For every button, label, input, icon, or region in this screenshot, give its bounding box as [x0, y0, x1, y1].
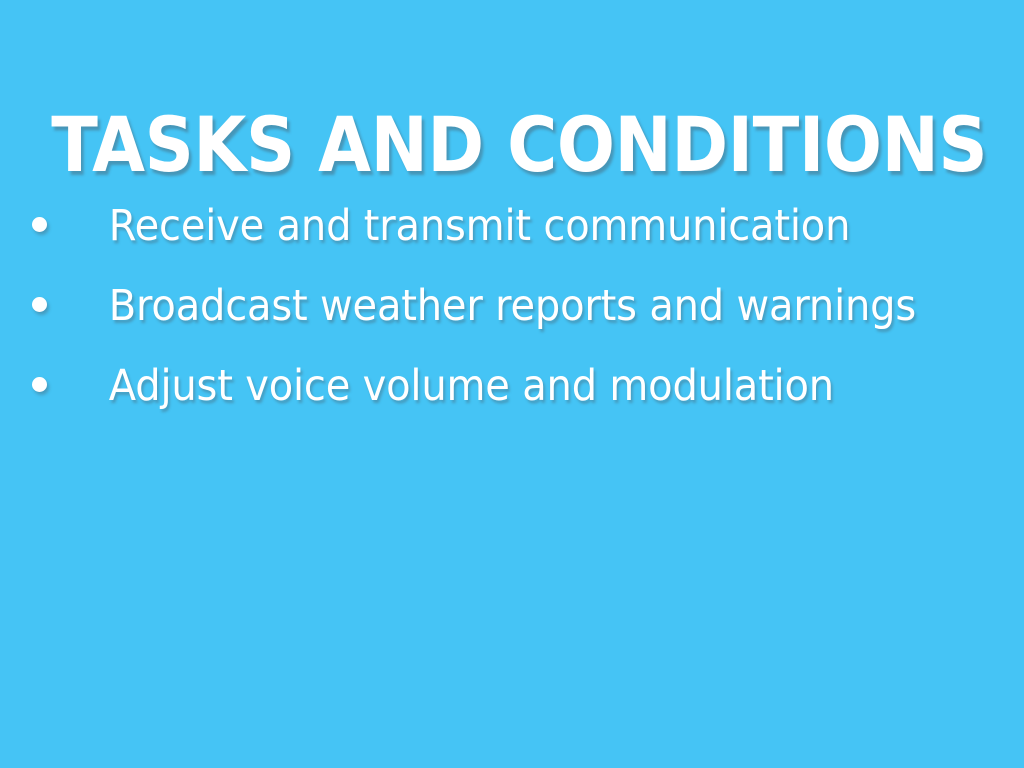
list-item: Receive and transmit communication [0, 186, 1024, 266]
list-item-label: Adjust voice volume and modulation [0, 361, 834, 411]
list-item-label: Broadcast weather reports and warnings [0, 281, 916, 331]
page-title: Tasks and Conditions [51, 103, 973, 187]
bullet-list: Receive and transmit communication Broad… [0, 186, 1024, 426]
slide-canvas: Tasks and Conditions Receive and transmi… [0, 0, 1024, 768]
list-item: Adjust voice volume and modulation [0, 346, 1024, 426]
list-item: Broadcast weather reports and warnings [0, 266, 1024, 346]
list-item-label: Receive and transmit communication [0, 201, 850, 251]
